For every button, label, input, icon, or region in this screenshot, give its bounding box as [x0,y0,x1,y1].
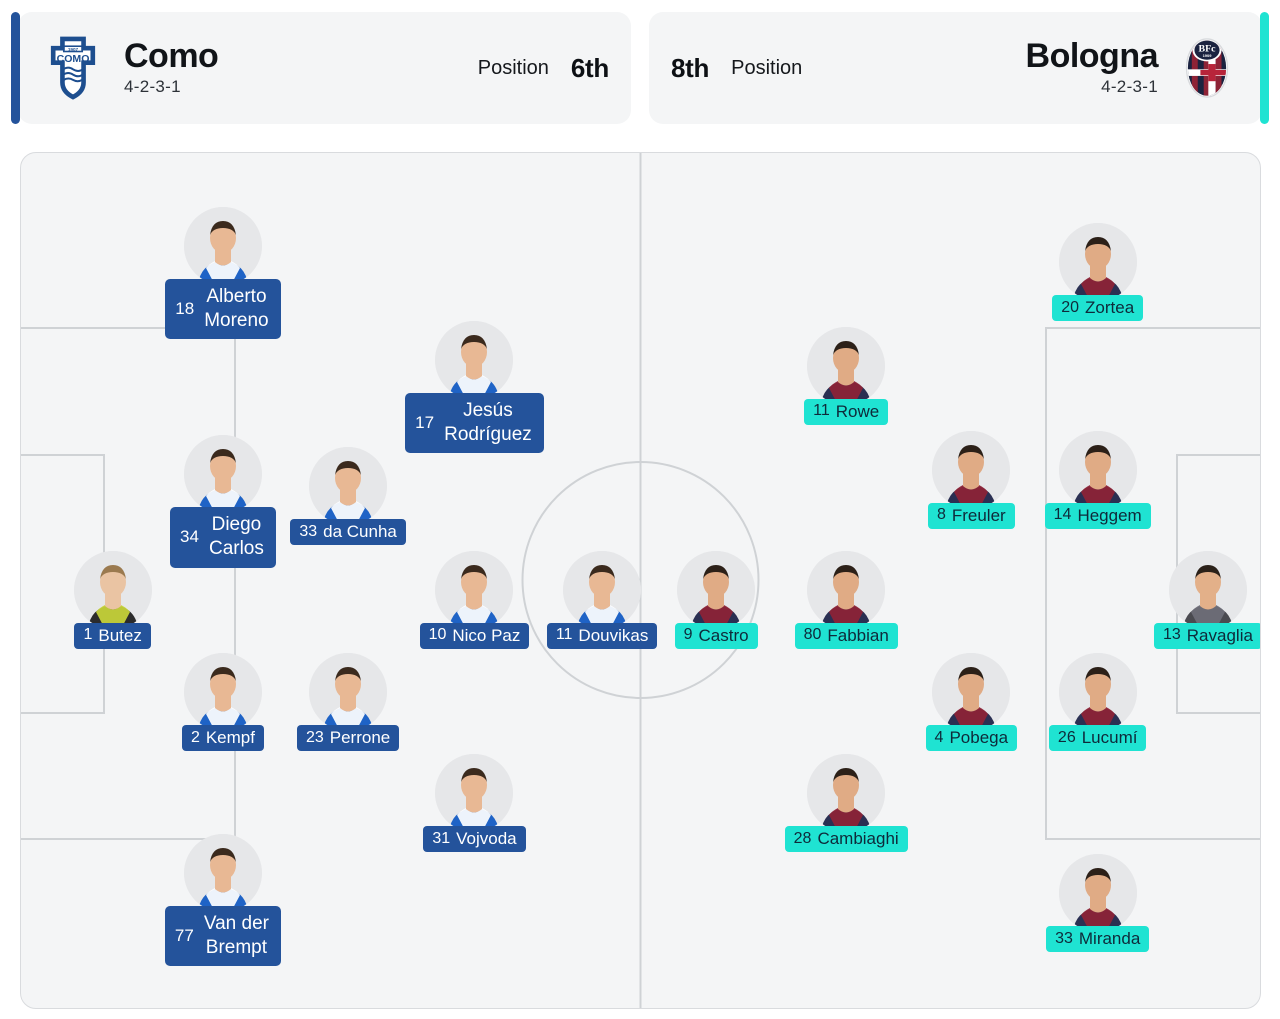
player-number: 20 [1061,299,1079,318]
player-avatar [309,653,387,731]
player-name: Van derBrempt [204,912,269,961]
player-number: 4 [935,729,944,748]
player-name-line: Carlos [209,537,264,561]
player-nametag[interactable]: 20Zortea [1052,295,1143,321]
player-name: Nico Paz [452,626,520,646]
player-number: 28 [794,830,812,849]
home-accent-bar [11,12,20,124]
home-team-name: Como [124,39,218,75]
player-name: AlbertoMoreno [204,285,268,334]
player-avatar [807,551,885,629]
player-nametag[interactable]: 80Fabbian [795,623,898,649]
player-name: Castro [699,626,749,646]
player-nametag[interactable]: 33da Cunha [290,519,406,545]
player-number: 11 [556,626,573,645]
player-avatar [932,431,1010,509]
player-number: 31 [432,830,450,849]
player-avatar [563,551,641,629]
away-position-label: Position [731,57,802,80]
player-name-line: Jesús [463,399,513,423]
home-position-label: Position [478,57,549,80]
player-nametag[interactable]: 26Lucumí [1049,725,1147,751]
player-nametag[interactable]: 8Freuler [928,503,1015,529]
player-name: Zortea [1085,298,1134,318]
player-nametag[interactable]: 23Perrone [297,725,399,751]
player-nametag[interactable]: 33Miranda [1046,926,1149,952]
lineup-page: 1907 COMO Como 4-2-3-1 Position 6th [0,0,1280,1019]
player-avatar [309,447,387,525]
svg-text:COMO: COMO [57,53,90,65]
player-name: Douvikas [578,626,648,646]
player-avatar [1059,223,1137,301]
away-accent-bar [1260,12,1269,124]
player-name: Butez [98,626,141,646]
player-avatar [1059,431,1137,509]
player-avatar [184,207,262,285]
player-name-line: Diego [212,513,262,537]
player-name: Lucumí [1082,728,1138,748]
home-position-block: Position 6th [478,53,609,84]
player-name: Miranda [1079,929,1140,949]
player-nametag[interactable]: 11Rowe [804,399,888,425]
team-headers: 1907 COMO Como 4-2-3-1 Position 6th [0,0,1280,140]
player-nametag[interactable]: 31Vojvoda [423,826,525,852]
player-avatar [435,321,513,399]
player-nametag[interactable]: 17JesúsRodríguez [405,393,544,454]
away-team-card[interactable]: BFc 1909 Bologna 4-2-3-1 Position 8th [649,12,1262,124]
away-team-formation: 4-2-3-1 [1026,77,1158,97]
player-name-line: Alberto [206,285,266,309]
player-avatar [1059,653,1137,731]
player-name: JesúsRodríguez [444,399,532,448]
player-nametag[interactable]: 77Van derBrempt [165,906,281,967]
player-nametag[interactable]: 1Butez [74,623,150,649]
player-number: 80 [804,626,822,645]
bologna-fc-crest-icon: BFc 1909 [1174,35,1240,101]
player-name-line: Brempt [206,936,267,960]
player-name: Vojvoda [456,829,517,849]
home-team-text: Como 4-2-3-1 [124,39,218,98]
player-nametag[interactable]: 2Kempf [182,725,264,751]
player-name-line: Moreno [204,309,268,333]
player-avatar [184,653,262,731]
player-name: Fabbian [827,626,888,646]
player-name: Heggem [1077,506,1141,526]
player-nametag[interactable]: 13Ravaglia [1154,623,1261,649]
player-nametag[interactable]: 14Heggem [1045,503,1151,529]
player-number: 26 [1058,729,1076,748]
player-avatar [807,327,885,405]
player-name: da Cunha [323,522,397,542]
player-nametag[interactable]: 11Douvikas [547,623,658,649]
pitch: 18AlbertoMoreno 17JesúsRodríguez 34Diego… [20,152,1261,1009]
player-number: 14 [1054,506,1072,525]
player-number: 18 [175,299,194,319]
player-number: 1 [83,626,92,645]
player-nametag[interactable]: 4Pobega [926,725,1018,751]
player-nametag[interactable]: 9Castro [675,623,758,649]
svg-text:1909: 1909 [1203,53,1213,58]
player-avatar [435,754,513,832]
player-avatar [1059,854,1137,932]
player-nametag[interactable]: 34DiegoCarlos [170,507,276,568]
player-name: Ravaglia [1187,626,1253,646]
player-name: Freuler [952,506,1006,526]
player-avatar [1169,551,1247,629]
player-name: Pobega [949,728,1008,748]
player-number: 34 [180,527,199,547]
player-number: 10 [429,626,447,645]
player-avatar [74,551,152,629]
player-name: Perrone [330,728,390,748]
home-position-value: 6th [571,53,609,84]
player-number: 8 [937,506,946,525]
home-team-card[interactable]: 1907 COMO Como 4-2-3-1 Position 6th [18,12,631,124]
player-number: 13 [1163,626,1181,645]
player-nametag[interactable]: 10Nico Paz [420,623,530,649]
player-number: 9 [684,626,693,645]
player-name: DiegoCarlos [209,513,264,562]
player-avatar [807,754,885,832]
player-name-line: Rodríguez [444,423,532,447]
player-number: 77 [175,926,194,946]
player-number: 33 [299,523,317,542]
player-avatar [932,653,1010,731]
player-avatar [184,435,262,513]
player-number: 2 [191,729,200,748]
como-1907-crest-icon: 1907 COMO [40,35,106,101]
away-team-name: Bologna [1026,39,1158,75]
away-position-block: Position 8th [671,53,802,84]
player-name: Rowe [836,402,879,422]
player-name-line: Van der [204,912,269,936]
player-number: 11 [813,402,830,421]
player-number: 33 [1055,930,1073,949]
player-name: Cambiaghi [817,829,898,849]
player-nametag[interactable]: 28Cambiaghi [785,826,908,852]
svg-text:1907: 1907 [68,47,79,52]
player-number: 23 [306,729,324,748]
player-number: 17 [415,413,434,433]
player-nametag[interactable]: 18AlbertoMoreno [165,279,280,340]
player-avatar [435,551,513,629]
player-avatar [184,834,262,912]
player-name: Kempf [206,728,255,748]
home-team-formation: 4-2-3-1 [124,77,218,97]
away-team-text: Bologna 4-2-3-1 [1026,39,1158,98]
away-position-value: 8th [671,53,709,84]
player-avatar [677,551,755,629]
